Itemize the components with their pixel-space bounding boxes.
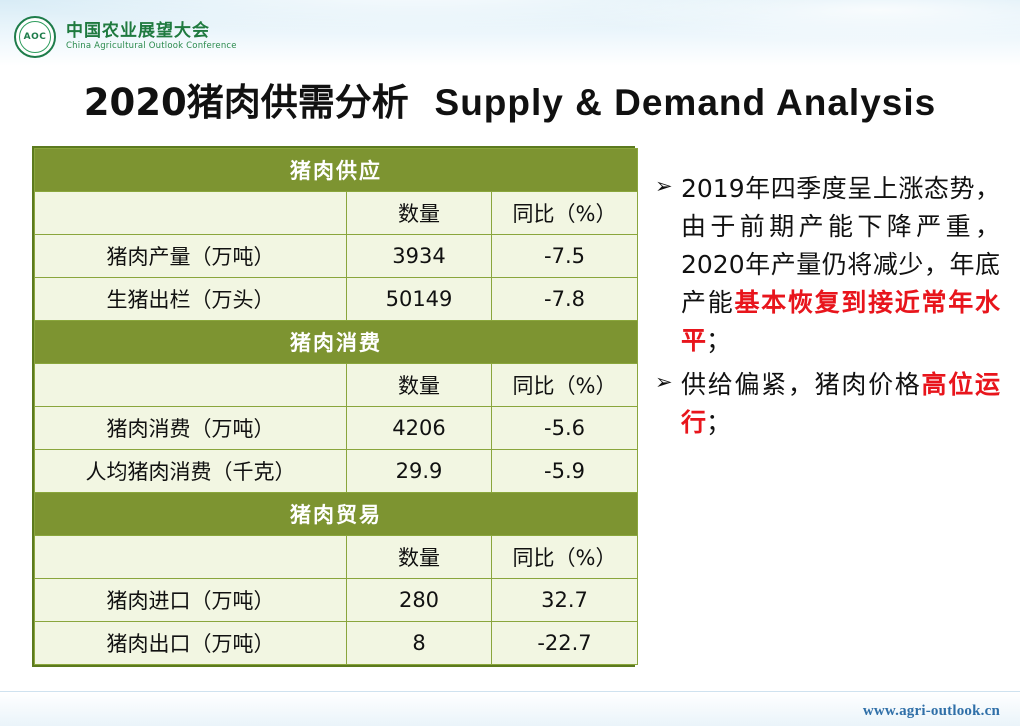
- row-value-yoy: -7.5: [492, 235, 638, 278]
- column-header-blank: [35, 192, 347, 235]
- table-row: 人均猪肉消费（千克） 29.9 -5.9: [35, 450, 638, 493]
- table-header-row: 数量 同比（%）: [35, 364, 638, 407]
- table-row: 猪肉出口（万吨） 8 -22.7: [35, 622, 638, 665]
- page-title-en: Supply & Demand Analysis: [435, 82, 937, 123]
- row-label: 生猪出栏（万头）: [35, 278, 347, 321]
- row-value-yoy: -5.9: [492, 450, 638, 493]
- bullet-text: 2019年四季度呈上涨态势，由于前期产能下降严重，2020年产量仍将减少，年底产…: [681, 170, 1000, 360]
- bullet-list: ➢ 2019年四季度呈上涨态势，由于前期产能下降严重，2020年产量仍将减少，年…: [655, 170, 1000, 448]
- column-header-yoy: 同比（%）: [492, 364, 638, 407]
- table-header-row: 数量 同比（%）: [35, 536, 638, 579]
- column-header-yoy: 同比（%）: [492, 536, 638, 579]
- logo-text-block: 中国农业展望大会 China Agricultural Outlook Conf…: [66, 23, 237, 52]
- column-header-quantity: 数量: [347, 364, 492, 407]
- column-header-yoy: 同比（%）: [492, 192, 638, 235]
- row-value-quantity: 3934: [347, 235, 492, 278]
- table-header-row: 数量 同比（%）: [35, 192, 638, 235]
- slide: AOC 中国农业展望大会 China Agricultural Outlook …: [0, 0, 1020, 726]
- section-heading: 猪肉消费: [35, 321, 638, 364]
- row-label: 人均猪肉消费（千克）: [35, 450, 347, 493]
- table-section-row: 猪肉供应: [35, 149, 638, 192]
- row-label: 猪肉进口（万吨）: [35, 579, 347, 622]
- table-section-row: 猪肉消费: [35, 321, 638, 364]
- page-title-cn: 2020猪肉供需分析: [84, 81, 409, 124]
- row-value-yoy: -22.7: [492, 622, 638, 665]
- table-row: 猪肉产量（万吨） 3934 -7.5: [35, 235, 638, 278]
- bullet-text-part: 供给偏紧，猪肉价格: [681, 370, 922, 399]
- column-header-blank: [35, 364, 347, 407]
- row-value-yoy: -7.8: [492, 278, 638, 321]
- column-header-blank: [35, 536, 347, 579]
- row-label: 猪肉产量（万吨）: [35, 235, 347, 278]
- list-item: ➢ 供给偏紧，猪肉价格高位运行；: [655, 366, 1000, 442]
- arrow-bullet-icon: ➢: [655, 366, 681, 400]
- arrow-bullet-icon: ➢: [655, 170, 681, 204]
- row-value-quantity: 8: [347, 622, 492, 665]
- table-row: 生猪出栏（万头） 50149 -7.8: [35, 278, 638, 321]
- row-value-quantity: 50149: [347, 278, 492, 321]
- row-value-quantity: 29.9: [347, 450, 492, 493]
- column-header-quantity: 数量: [347, 536, 492, 579]
- table-row: 猪肉进口（万吨） 280 32.7: [35, 579, 638, 622]
- row-value-quantity: 4206: [347, 407, 492, 450]
- bullet-text-part: ；: [706, 408, 731, 437]
- section-heading: 猪肉供应: [35, 149, 638, 192]
- column-header-quantity: 数量: [347, 192, 492, 235]
- logo-title-en: China Agricultural Outlook Conference: [66, 42, 237, 51]
- table: 猪肉供应 数量 同比（%） 猪肉产量（万吨） 3934 -7.5 生猪出栏（万头…: [34, 148, 638, 665]
- bullet-text: 供给偏紧，猪肉价格高位运行；: [681, 366, 1000, 442]
- conference-logo: AOC 中国农业展望大会 China Agricultural Outlook …: [14, 16, 237, 58]
- table-row: 猪肉消费（万吨） 4206 -5.6: [35, 407, 638, 450]
- top-banner: AOC 中国农业展望大会 China Agricultural Outlook …: [0, 0, 1020, 66]
- row-label: 猪肉出口（万吨）: [35, 622, 347, 665]
- footer-url: www.agri-outlook.cn: [863, 703, 1000, 720]
- logo-title-cn: 中国农业展望大会: [66, 23, 237, 41]
- section-heading: 猪肉贸易: [35, 493, 638, 536]
- row-label: 猪肉消费（万吨）: [35, 407, 347, 450]
- supply-demand-table: 猪肉供应 数量 同比（%） 猪肉产量（万吨） 3934 -7.5 生猪出栏（万头…: [32, 146, 635, 667]
- table-body: 猪肉供应 数量 同比（%） 猪肉产量（万吨） 3934 -7.5 生猪出栏（万头…: [35, 149, 638, 665]
- footer-divider: [0, 691, 1020, 692]
- aoc-logo-icon: AOC: [14, 16, 56, 58]
- page-title: 2020猪肉供需分析 Supply & Demand Analysis: [0, 72, 1020, 126]
- table-section-row: 猪肉贸易: [35, 493, 638, 536]
- row-value-quantity: 280: [347, 579, 492, 622]
- bullet-text-part: ；: [706, 326, 731, 355]
- row-value-yoy: 32.7: [492, 579, 638, 622]
- row-value-yoy: -5.6: [492, 407, 638, 450]
- logo-mark-text: AOC: [24, 33, 47, 42]
- list-item: ➢ 2019年四季度呈上涨态势，由于前期产能下降严重，2020年产量仍将减少，年…: [655, 170, 1000, 360]
